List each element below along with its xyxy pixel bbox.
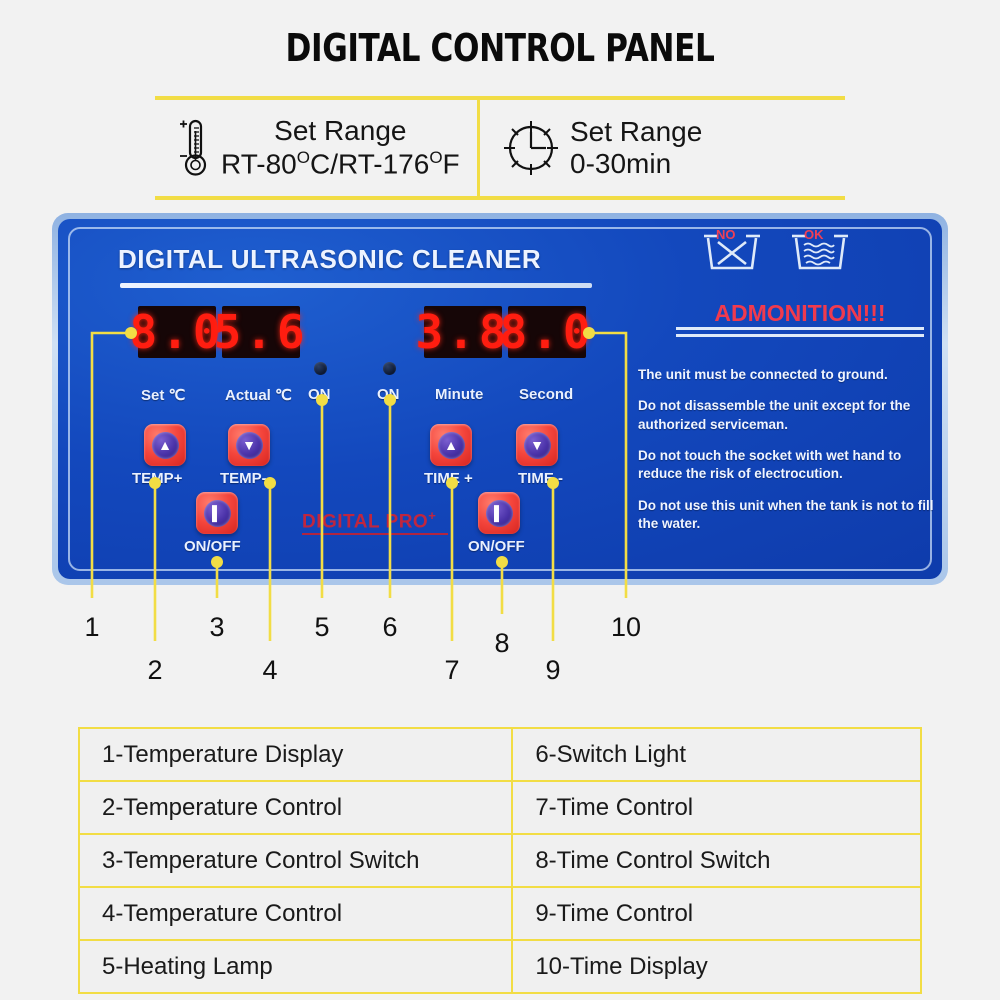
time-onoff-button[interactable]: ▌ xyxy=(478,492,520,534)
legend-cell-left: 3-Temperature Control Switch xyxy=(79,834,512,887)
admonition-rule-top xyxy=(676,327,924,330)
legend-cell-left: 5-Heating Lamp xyxy=(79,940,512,993)
arrow-down-icon: ▼ xyxy=(236,432,263,459)
page-title: DIGITAL CONTROL PANEL xyxy=(90,26,910,70)
spec-temp-line2: RT-80OC/RT-176OF xyxy=(221,148,460,181)
legend-cell-right: 6-Switch Light xyxy=(512,728,921,781)
warning-list: The unit must be connected to ground.Do … xyxy=(638,366,948,547)
legend-cell-left: 2-Temperature Control xyxy=(79,781,512,834)
spec-time-line2: 0-30min xyxy=(570,148,702,180)
label-time-plus: TIME + xyxy=(424,470,473,487)
brand-underline xyxy=(302,533,448,535)
warning-line: Do not disassemble the unit except for t… xyxy=(638,397,948,434)
time-decrease-button[interactable]: ▼ xyxy=(516,424,558,466)
arrow-up-icon: ▲ xyxy=(152,432,179,459)
warning-line: Do not touch the socket with wet hand to… xyxy=(638,447,948,484)
callout-number-4: 4 xyxy=(262,655,277,686)
label-minute: Minute xyxy=(435,386,483,403)
label-on-heating: ON xyxy=(308,386,331,403)
callout-number-1: 1 xyxy=(84,612,99,643)
callout-number-10: 10 xyxy=(611,612,641,643)
spec-temperature-text: Set Range RT-80OC/RT-176OF xyxy=(221,115,460,180)
spec-temperature-range: Set Range RT-80OC/RT-176OF xyxy=(155,100,480,196)
legend-table: 1-Temperature Display6-Switch Light2-Tem… xyxy=(78,727,922,994)
label-onoff-temperature: ON/OFF xyxy=(184,538,241,555)
label-temp-minus: TEMP- xyxy=(220,470,267,487)
temperature-actual-display: 5.6 xyxy=(222,306,300,358)
warning-line: Do not use this unit when the tank is no… xyxy=(638,497,948,534)
label-time-minus: TIME - xyxy=(518,470,563,487)
legend-cell-right: 9-Time Control xyxy=(512,887,921,940)
temperature-actual-value: 5.6 xyxy=(213,309,308,355)
temperature-set-display: 8.0 xyxy=(138,306,216,358)
legend-cell-right: 8-Time Control Switch xyxy=(512,834,921,887)
heating-lamp-indicator xyxy=(314,362,327,375)
time-minute-display: 3.8 xyxy=(424,306,502,358)
spec-bar: Set Range RT-80OC/RT-176OF Set Range 0-3… xyxy=(155,96,845,200)
spec-time-line1: Set Range xyxy=(570,116,702,148)
brand-mark: DIGITAL PRO+ xyxy=(302,508,436,533)
label-set-celsius: Set ℃ xyxy=(141,386,185,404)
power-icon: ▌ xyxy=(486,500,513,527)
thermometer-icon xyxy=(177,117,211,179)
callout-number-5: 5 xyxy=(314,612,329,643)
callout-number-3: 3 xyxy=(209,612,224,643)
callout-number-6: 6 xyxy=(382,612,397,643)
spec-time-text: Set Range 0-30min xyxy=(570,116,702,181)
temp-decrease-button[interactable]: ▼ xyxy=(228,424,270,466)
label-on-switch: ON xyxy=(377,386,400,403)
warning-line: The unit must be connected to ground. xyxy=(638,366,948,384)
label-temp-plus: TEMP+ xyxy=(132,470,182,487)
panel-heading: DIGITAL ULTRASONIC CLEANER xyxy=(118,244,541,275)
arrow-up-icon: ▲ xyxy=(438,432,465,459)
table-row: 5-Heating Lamp10-Time Display xyxy=(79,940,921,993)
legend-cell-left: 4-Temperature Control xyxy=(79,887,512,940)
callout-number-7: 7 xyxy=(444,655,459,686)
table-row: 2-Temperature Control7-Time Control xyxy=(79,781,921,834)
table-row: 1-Temperature Display6-Switch Light xyxy=(79,728,921,781)
label-onoff-time: ON/OFF xyxy=(468,538,525,555)
time-minute-value: 3.8 xyxy=(415,309,510,355)
time-increase-button[interactable]: ▲ xyxy=(430,424,472,466)
time-second-display: 8.0 xyxy=(508,306,586,358)
admonition-title: ADMONITION!!! xyxy=(675,300,925,327)
temperature-set-value: 8.0 xyxy=(129,309,224,355)
legend-cell-right: 7-Time Control xyxy=(512,781,921,834)
legend-table-body: 1-Temperature Display6-Switch Light2-Tem… xyxy=(79,728,921,993)
legend-cell-right: 10-Time Display xyxy=(512,940,921,993)
callout-number-2: 2 xyxy=(147,655,162,686)
switch-light-indicator xyxy=(383,362,396,375)
label-second: Second xyxy=(519,386,573,403)
callout-number-9: 9 xyxy=(545,655,560,686)
label-actual-celsius: Actual ℃ xyxy=(225,386,292,404)
temp-increase-button[interactable]: ▲ xyxy=(144,424,186,466)
time-second-value: 8.0 xyxy=(499,309,594,355)
legend-cell-left: 1-Temperature Display xyxy=(79,728,512,781)
temperature-onoff-button[interactable]: ▌ xyxy=(196,492,238,534)
basin-no-label: NO xyxy=(716,227,736,242)
spec-time-range: Set Range 0-30min xyxy=(480,100,702,196)
power-icon: ▌ xyxy=(204,500,231,527)
table-row: 4-Temperature Control9-Time Control xyxy=(79,887,921,940)
spec-temp-line1: Set Range xyxy=(221,115,460,147)
callout-number-8: 8 xyxy=(494,628,509,659)
table-row: 3-Temperature Control Switch8-Time Contr… xyxy=(79,834,921,887)
clock-icon xyxy=(502,119,560,177)
panel-heading-rule xyxy=(120,283,592,288)
arrow-down-icon: ▼ xyxy=(524,432,551,459)
basin-ok-label: OK xyxy=(804,227,824,242)
admonition-rule-bottom xyxy=(676,334,924,337)
